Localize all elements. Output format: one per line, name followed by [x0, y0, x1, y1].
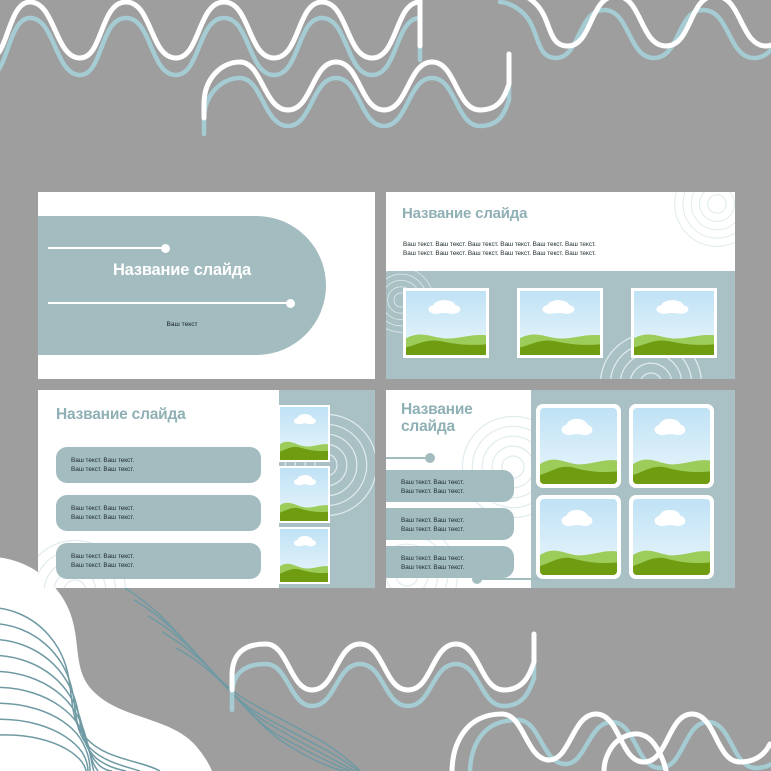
- slide-title: Название слайда: [402, 206, 527, 222]
- connector-dot-bottom-icon: [286, 299, 295, 308]
- landscape-image-icon: [406, 291, 486, 355]
- text-card-label: Ваш текст. Ваш текст. Ваш текст. Ваш тек…: [71, 504, 134, 523]
- wave-teal-top-left: [0, 18, 420, 75]
- landscape-image-icon: [633, 408, 710, 484]
- image-placeholder[interactable]: [278, 527, 330, 584]
- text-card[interactable]: Ваш текст. Ваш текст. Ваш текст. Ваш тек…: [386, 470, 514, 502]
- image-placeholder[interactable]: [629, 404, 714, 488]
- text-card-label: Ваш текст. Ваш текст. Ваш текст. Ваш тек…: [71, 552, 134, 571]
- landscape-image-icon: [540, 408, 617, 484]
- text-card[interactable]: Ваш текст. Ваш текст. Ваш текст. Ваш тек…: [386, 546, 514, 578]
- slide-image-strip: [386, 271, 735, 379]
- poster-canvas: Название слайда Ваш текст Название слайд…: [0, 0, 771, 771]
- image-placeholder[interactable]: [536, 495, 621, 579]
- connector-line-top: [48, 247, 166, 249]
- connector-line-bottom: [48, 302, 291, 304]
- slide-list-with-image-grid[interactable]: Название слайда Ваш текст. Ваш текст. Ва…: [386, 390, 735, 588]
- connector-dot-top-icon: [161, 244, 170, 253]
- text-card-label: Ваш текст. Ваш текст. Ваш текст. Ваш тек…: [71, 456, 134, 475]
- image-placeholder[interactable]: [517, 288, 603, 358]
- wave-teal-top-right: [500, 2, 771, 58]
- slide-body-text: Ваш текст. Ваш текст. Ваш текст. Ваш тек…: [403, 240, 713, 259]
- text-card-label: Ваш текст. Ваш текст. Ваш текст. Ваш тек…: [401, 516, 464, 535]
- title-rounded-panel: [38, 216, 326, 355]
- text-card-label: Ваш текст. Ваш текст. Ваш текст. Ваш тек…: [401, 554, 464, 573]
- wave-white-top-right: [512, 0, 771, 46]
- slide-title: Название слайда: [56, 407, 186, 424]
- landscape-image-icon: [280, 468, 328, 521]
- text-card[interactable]: Ваш текст. Ваш текст. Ваш текст. Ваш тек…: [56, 447, 261, 483]
- landscape-image-icon: [520, 291, 600, 355]
- image-placeholder[interactable]: [629, 495, 714, 579]
- wave-white-top-left: [0, 2, 420, 58]
- text-card[interactable]: Ваш текст. Ваш текст. Ваш текст. Ваш тек…: [56, 495, 261, 531]
- connector-line-top: [386, 457, 427, 459]
- slide-subtitle: Ваш текст: [38, 321, 326, 328]
- slide-three-images[interactable]: Название слайда Ваш текст. Ваш текст. Ва…: [386, 192, 735, 379]
- slide-list-with-side-images[interactable]: Название слайда Ваш текст. Ваш текст. Ва…: [38, 390, 375, 588]
- wave-teal-mid: [204, 70, 509, 134]
- wave-white-bottom: [232, 634, 534, 690]
- image-placeholder[interactable]: [403, 288, 489, 358]
- text-card[interactable]: Ваш текст. Ваш текст. Ваш текст. Ваш тек…: [56, 543, 261, 579]
- wave-white-bottom-right: [452, 714, 770, 771]
- slide-title-slide[interactable]: Название слайда Ваш текст: [38, 192, 375, 379]
- slide-title: Название слайда: [38, 262, 326, 280]
- image-placeholder[interactable]: [631, 288, 717, 358]
- slide-content-panel: Название слайда Ваш текст. Ваш текст. Ва…: [386, 390, 531, 588]
- slide-header-area: Название слайда Ваш текст. Ваш текст. Ва…: [386, 192, 735, 271]
- text-card-label: Ваш текст. Ваш текст. Ваш текст. Ваш тек…: [401, 478, 464, 497]
- image-placeholder[interactable]: [278, 466, 330, 523]
- landscape-image-icon: [280, 529, 328, 582]
- text-card[interactable]: Ваш текст. Ваш текст. Ваш текст. Ваш тек…: [386, 508, 514, 540]
- landscape-image-icon: [540, 499, 617, 575]
- slide-title: Название слайда: [401, 402, 521, 435]
- image-placeholder[interactable]: [536, 404, 621, 488]
- connector-dot-bottom-icon: [472, 574, 482, 584]
- connector-dot-top-icon: [425, 453, 435, 463]
- landscape-image-icon: [633, 499, 710, 575]
- wave-teal-bottom-right: [470, 720, 771, 771]
- contour-blob-bottom-left: [0, 0, 360, 771]
- wave-teal-bottom: [232, 650, 534, 710]
- landscape-image-icon: [634, 291, 714, 355]
- wave-white-bottom-right-2: [604, 734, 666, 771]
- background-decoration: [0, 0, 771, 771]
- image-placeholder[interactable]: [278, 405, 330, 462]
- landscape-image-icon: [280, 407, 328, 460]
- wave-white-mid: [204, 54, 509, 118]
